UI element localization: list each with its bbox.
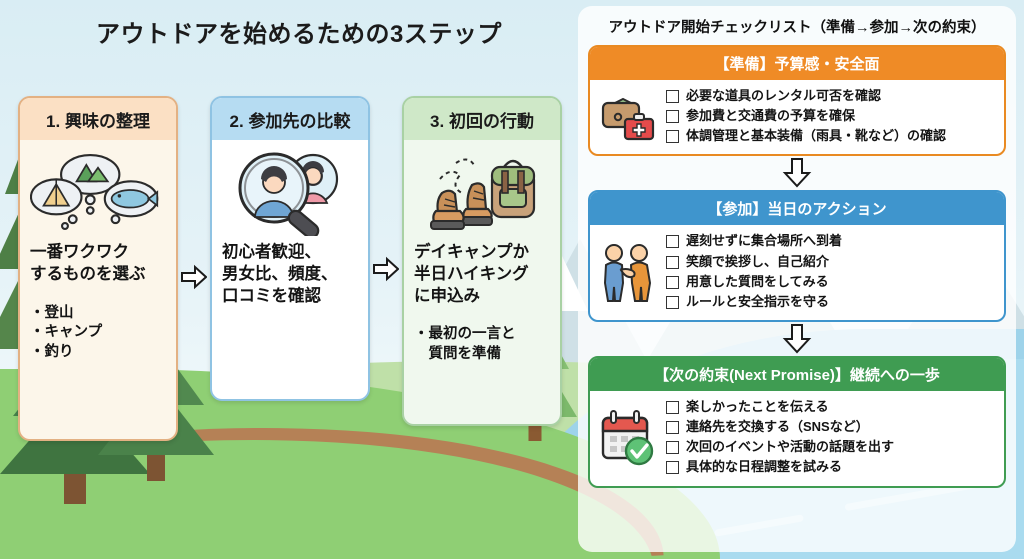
checklist-item[interactable]: 次回のイベントや活動の話題を出す (666, 437, 996, 457)
checklist-block-3-heading: 【次の約束(Next Promise)】継続への一歩 (590, 358, 1004, 391)
down-arrow-icon (588, 156, 1006, 190)
checklist-item[interactable]: 必要な道具のレンタル可否を確認 (666, 86, 996, 106)
checkbox-icon[interactable] (666, 421, 679, 434)
checkbox-icon[interactable] (666, 256, 679, 269)
steps-row: 1. 興味の整理 (18, 96, 562, 441)
right-arrow-icon (181, 264, 207, 290)
checkbox-icon[interactable] (666, 130, 679, 143)
checklist-item-label: 用意した質問をしてみる (686, 272, 829, 292)
checkbox-icon[interactable] (666, 461, 679, 474)
right-arrow-icon (373, 256, 399, 282)
page-title: アウトドアを始めるための3ステップ (96, 14, 502, 49)
checklist-item-label: 楽しかったことを伝える (686, 397, 829, 417)
handshake-icon (596, 241, 658, 303)
checklist-block-3-items: 楽しかったことを伝える 連絡先を交換する（SNSなど） 次回のイベントや活動の話… (666, 397, 996, 478)
checklist-item[interactable]: 連絡先を交換する（SNSなど） (666, 417, 996, 437)
step-2-main-text: 初心者歓迎、 男女比、頻度、 口コミを確認 (222, 242, 358, 307)
checklist-item[interactable]: 遅刻せずに集合場所へ到着 (666, 231, 996, 251)
step-card-3[interactable]: 3. 初回の行動 (402, 96, 562, 426)
checklist-block-next-promise[interactable]: 【次の約束(Next Promise)】継続への一歩 (588, 356, 1006, 488)
checklist-item-label: 必要な道具のレンタル可否を確認 (686, 86, 881, 106)
checklist-item-label: 具体的な日程調整を試みる (686, 457, 842, 477)
checkbox-icon[interactable] (666, 276, 679, 289)
checklist-panel: アウトドア開始チェックリスト（準備→参加→次の約束） 【準備】予算感・安全面 (578, 6, 1016, 552)
checklist-item[interactable]: ルールと安全指示を守る (666, 292, 996, 312)
checkbox-icon[interactable] (666, 90, 679, 103)
checklist-item[interactable]: 笑顔で挨拶し、自己紹介 (666, 252, 996, 272)
checklist-item-label: 遅刻せずに集合場所へ到着 (686, 231, 842, 251)
checklist-item[interactable]: 参加費と交通費の予算を確保 (666, 106, 996, 126)
checklist-block-preparation[interactable]: 【準備】予算感・安全面 必要な道具のレンタル可否を確認 (588, 45, 1006, 156)
step-1-main-text: 一番ワクワク するものを選ぶ (30, 242, 166, 286)
checklist-item[interactable]: 体調管理と基本装備（雨具・靴など）の確認 (666, 126, 996, 146)
checklist-block-2-heading: 【参加】当日のアクション (590, 192, 1004, 225)
checklist-item-label: 体調管理と基本装備（雨具・靴など）の確認 (686, 126, 946, 146)
step-3-main-text: デイキャンプか 半日ハイキング に申込み (414, 242, 550, 307)
checklist-item-label: 笑顔で挨拶し、自己紹介 (686, 252, 829, 272)
checklist-item-label: 参加費と交通費の予算を確保 (686, 106, 855, 126)
wallet-firstaid-icon (596, 87, 658, 145)
step-3-heading: 3. 初回の行動 (404, 98, 560, 140)
checklist-item[interactable]: 楽しかったことを伝える (666, 397, 996, 417)
checklist-item[interactable]: 用意した質問をしてみる (666, 272, 996, 292)
infographic-canvas: アウトドアを始めるための3ステップ 1. 興味の整理 (0, 0, 1024, 559)
step-1-heading: 1. 興味の整理 (20, 98, 176, 140)
magnifier-people-search-icon (222, 148, 358, 236)
checkbox-icon[interactable] (666, 441, 679, 454)
checkbox-icon[interactable] (666, 235, 679, 248)
step-3-bullets: ・最初の一言と 質問を準備 (414, 325, 550, 364)
step-1-bullets: ・登山 ・キャンプ ・釣り (30, 304, 166, 363)
checklist-item-label: ルールと安全指示を守る (686, 292, 829, 312)
step-card-1[interactable]: 1. 興味の整理 (18, 96, 178, 441)
checkbox-icon[interactable] (666, 401, 679, 414)
checklist-item-label: 連絡先を交換する（SNSなど） (686, 417, 869, 437)
calendar-check-icon (596, 408, 658, 466)
checklist-item[interactable]: 具体的な日程調整を試みる (666, 457, 996, 477)
checkbox-icon[interactable] (666, 296, 679, 309)
step-2-heading: 2. 参加先の比較 (212, 98, 368, 140)
checklist-block-participation[interactable]: 【参加】当日のアクション 遅刻せずに集合場所へ到着 (588, 190, 1006, 322)
hiking-boots-backpack-icon (414, 148, 550, 236)
step-card-2[interactable]: 2. 参加先の比較 (210, 96, 370, 401)
checkbox-icon[interactable] (666, 110, 679, 123)
thought-bubbles-tent-mountain-fish-icon (30, 148, 166, 236)
checklist-title: アウトドア開始チェックリスト（準備→参加→次の約束） (588, 16, 1006, 37)
checklist-block-1-heading: 【準備】予算感・安全面 (590, 47, 1004, 80)
down-arrow-icon (588, 322, 1006, 356)
checklist-block-1-items: 必要な道具のレンタル可否を確認 参加費と交通費の予算を確保 体調管理と基本装備（… (666, 86, 996, 146)
checklist-item-label: 次回のイベントや活動の話題を出す (686, 437, 894, 457)
checklist-block-2-items: 遅刻せずに集合場所へ到着 笑顔で挨拶し、自己紹介 用意した質問をしてみる ルール… (666, 231, 996, 312)
